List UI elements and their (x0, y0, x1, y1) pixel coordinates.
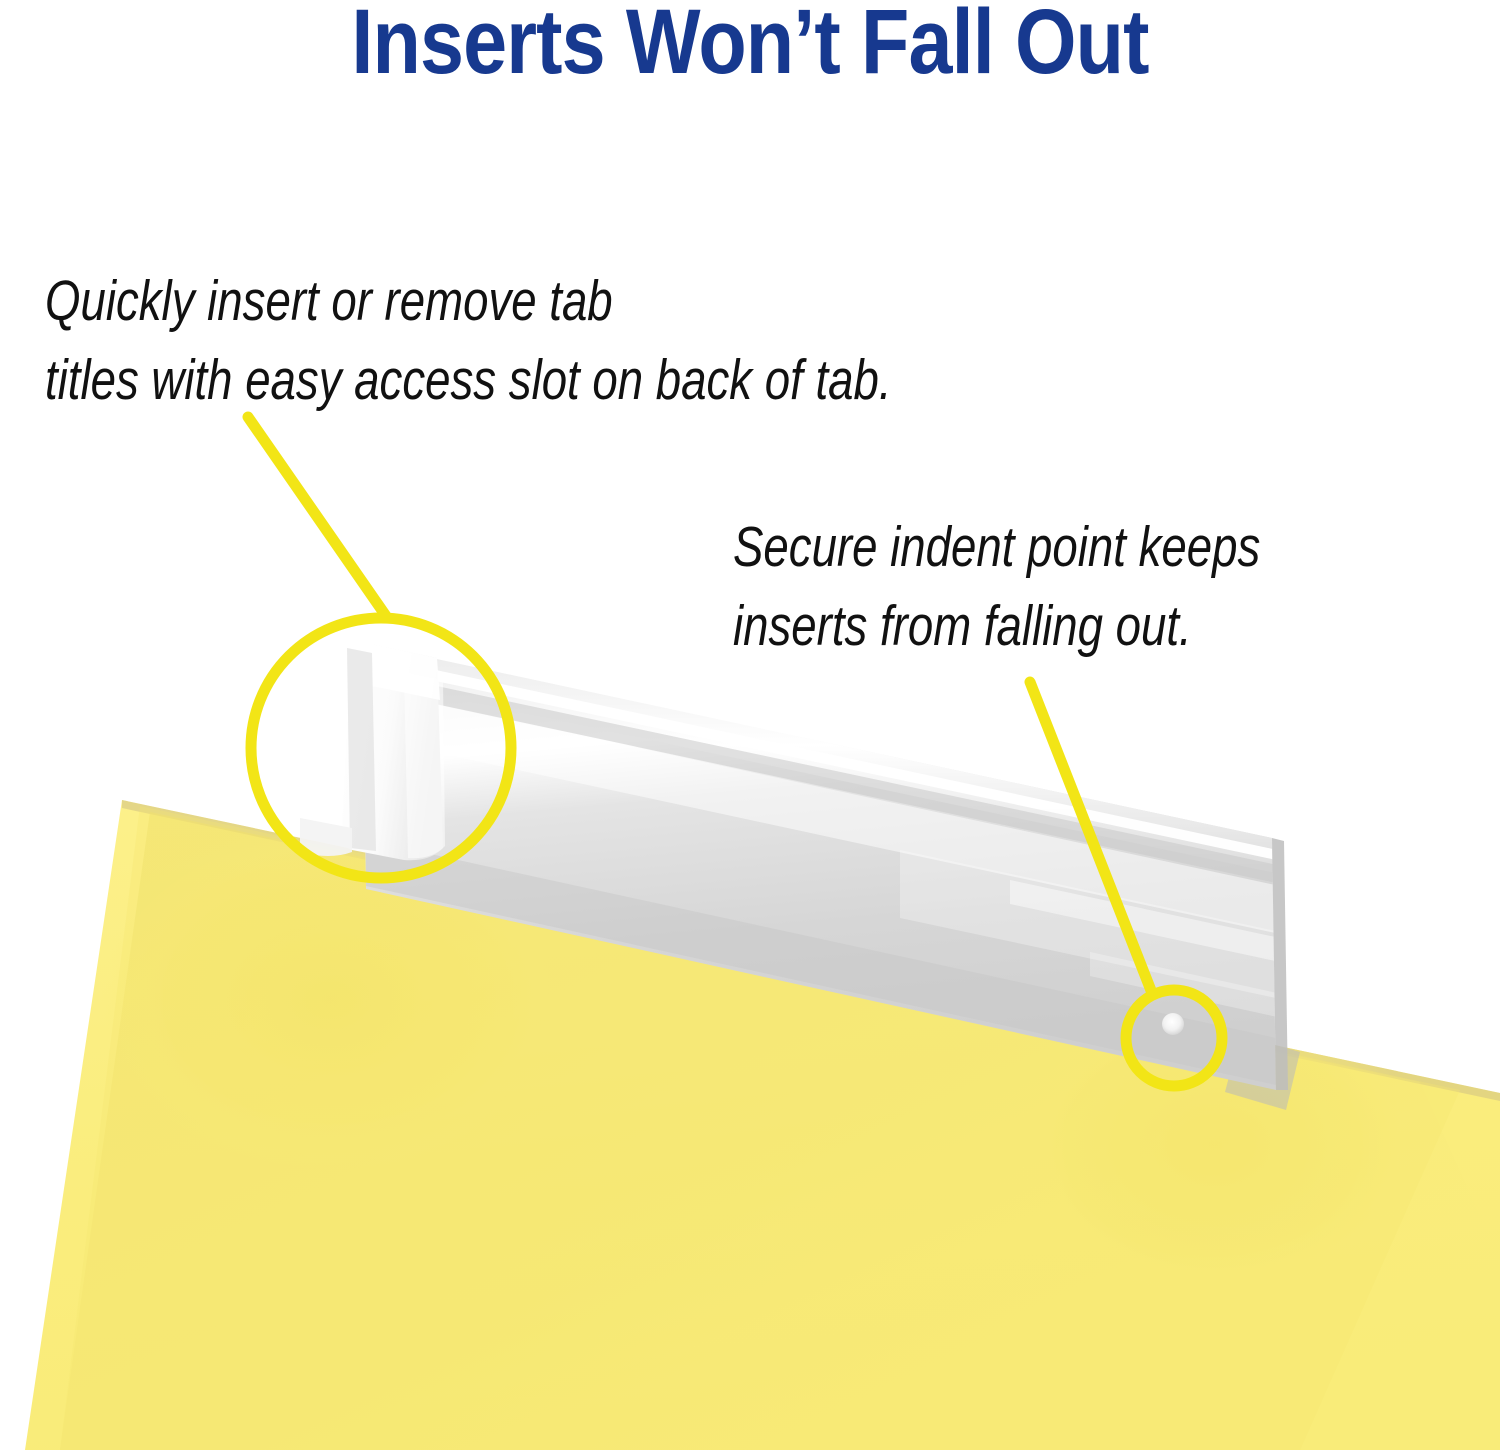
callout-text-line: inserts from falling out. (733, 587, 1260, 666)
callout-text-line: Quickly insert or remove tab (45, 262, 892, 341)
callout-text-secure-indent: Secure indent point keeps inserts from f… (733, 508, 1260, 666)
callout-text-line: titles with easy access slot on back of … (45, 341, 892, 420)
infographic-page: Inserts Won’t Fall Out Quickly insert or… (0, 0, 1500, 1450)
product-illustration (0, 0, 1500, 1450)
indent-point-dimple (1162, 1013, 1184, 1035)
callout-text-insert-removal: Quickly insert or remove tab titles with… (45, 262, 892, 420)
page-title: Inserts Won’t Fall Out (105, 0, 1395, 90)
callout-text-line: Secure indent point keeps (733, 508, 1260, 587)
